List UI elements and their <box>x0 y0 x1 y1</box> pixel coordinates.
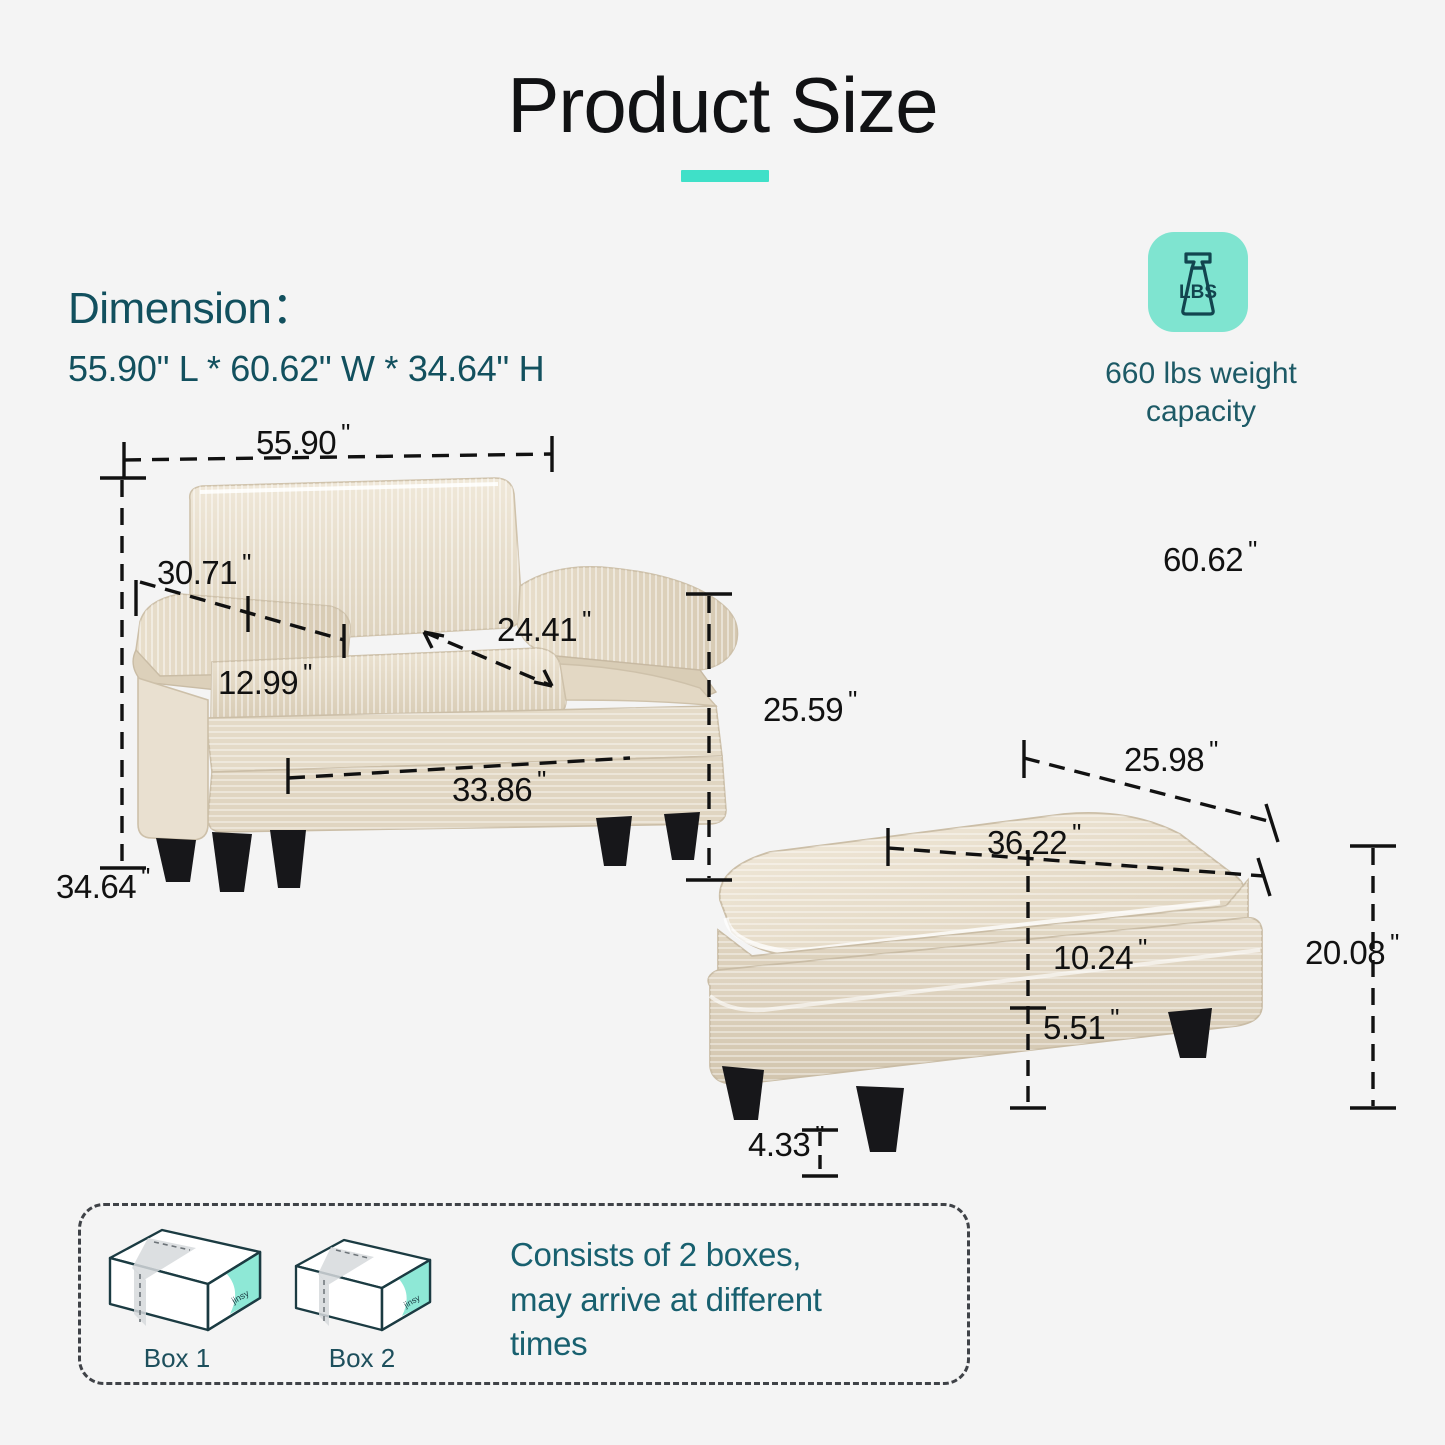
dim-ottoman-gap-height: 25.59" <box>763 685 857 729</box>
dim-ottoman-upper-height: 10.24" <box>1053 933 1147 977</box>
weight-lbs-icon: LBS <box>1148 232 1248 332</box>
dim-chair-seat-depth: 24.41" <box>497 605 591 649</box>
title-underline <box>681 170 769 182</box>
dim-ottoman-leg-height: 4.33" <box>748 1120 824 1164</box>
dim-ottoman-total-height: 20.08" <box>1305 928 1399 972</box>
dimension-value: 55.90" L * 60.62" W * 34.64" H <box>68 348 544 390</box>
box-2-label: Box 2 <box>292 1343 432 1374</box>
boxes-note-line1: Consists of 2 boxes, <box>510 1233 950 1278</box>
box-1-label: Box 1 <box>107 1343 247 1374</box>
dim-ottoman-base-height: 5.51" <box>1043 1003 1119 1047</box>
weight-icon-text: LBS <box>1179 282 1217 303</box>
page-title: Product Size <box>0 60 1445 151</box>
dim-ottoman-depth-total: 60.62" <box>1163 535 1257 579</box>
dim-chair-total-height: 34.64" <box>56 862 150 906</box>
dim-ottoman-side-depth: 25.98" <box>1124 735 1218 779</box>
weight-caption-line1: 660 lbs weight <box>1105 357 1297 390</box>
dim-chair-back-height: 30.71" <box>157 548 251 592</box>
dim-chair-arm-width: 12.99" <box>218 658 312 702</box>
dim-ottoman-top-width: 36.22" <box>987 818 1081 862</box>
weight-capacity-badge: LBS <box>1148 232 1248 332</box>
boxes-note-line3: times <box>510 1322 950 1367</box>
weight-capacity-caption: 660 lbs weight capacity <box>1046 355 1356 432</box>
boxes-note-line2: may arrive at different <box>510 1278 950 1323</box>
dim-chair-seat-width: 33.86" <box>452 765 546 809</box>
box-1-icon: jinsy <box>100 1218 270 1343</box>
boxes-note: Consists of 2 boxes, may arrive at diffe… <box>510 1233 950 1367</box>
box-2-icon: jinsy <box>288 1230 438 1342</box>
infographic-canvas: Product Size Dimension： 55.90" L * 60.62… <box>0 0 1445 1445</box>
dim-chair-width: 55.90" <box>256 418 350 462</box>
dimension-heading: Dimension： <box>68 272 315 336</box>
weight-caption-line2: capacity <box>1146 395 1256 428</box>
